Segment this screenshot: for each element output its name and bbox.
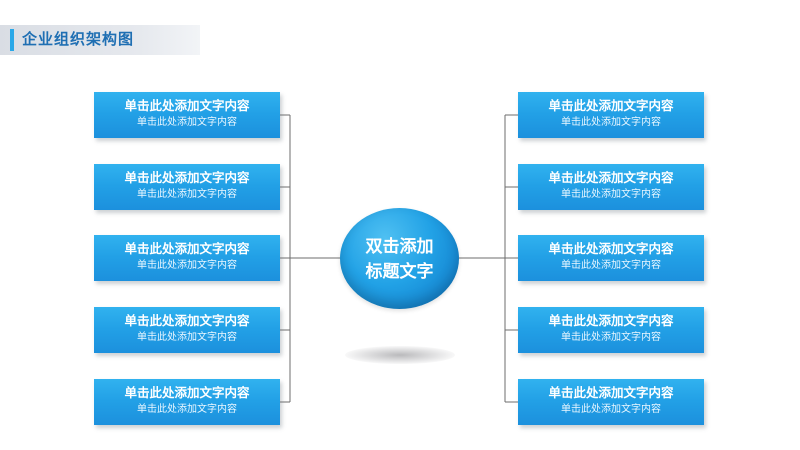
left-node-2-title: 单击此处添加文字内容	[94, 169, 280, 187]
right-node-3-title: 单击此处添加文字内容	[518, 240, 704, 258]
center-node-line2: 标题文字	[366, 259, 434, 284]
right-node-4-title: 单击此处添加文字内容	[518, 312, 704, 330]
right-node-4-subtitle: 单击此处添加文字内容	[518, 330, 704, 346]
center-node-shadow	[345, 346, 455, 364]
left-node-5[interactable]: 单击此处添加文字内容 单击此处添加文字内容	[94, 379, 280, 425]
right-node-2[interactable]: 单击此处添加文字内容 单击此处添加文字内容	[518, 164, 704, 210]
left-node-5-title: 单击此处添加文字内容	[94, 384, 280, 402]
right-node-5[interactable]: 单击此处添加文字内容 单击此处添加文字内容	[518, 379, 704, 425]
right-node-4[interactable]: 单击此处添加文字内容 单击此处添加文字内容	[518, 307, 704, 353]
left-node-1[interactable]: 单击此处添加文字内容 单击此处添加文字内容	[94, 92, 280, 138]
right-node-2-title: 单击此处添加文字内容	[518, 169, 704, 187]
left-node-3-title: 单击此处添加文字内容	[94, 240, 280, 258]
left-node-4-subtitle: 单击此处添加文字内容	[94, 330, 280, 346]
left-node-2[interactable]: 单击此处添加文字内容 单击此处添加文字内容	[94, 164, 280, 210]
right-node-1-subtitle: 单击此处添加文字内容	[518, 115, 704, 131]
right-node-1[interactable]: 单击此处添加文字内容 单击此处添加文字内容	[518, 92, 704, 138]
left-node-4-title: 单击此处添加文字内容	[94, 312, 280, 330]
left-node-5-subtitle: 单击此处添加文字内容	[94, 402, 280, 418]
right-node-5-title: 单击此处添加文字内容	[518, 384, 704, 402]
left-node-1-title: 单击此处添加文字内容	[94, 97, 280, 115]
left-node-1-subtitle: 单击此处添加文字内容	[94, 115, 280, 131]
slide-canvas: 企业组织架构图 双击添加 标题文字 单击此处添加文字内容 单击此处添加文字内容 …	[0, 0, 800, 450]
right-node-1-title: 单击此处添加文字内容	[518, 97, 704, 115]
right-node-2-subtitle: 单击此处添加文字内容	[518, 187, 704, 203]
left-node-4[interactable]: 单击此处添加文字内容 单击此处添加文字内容	[94, 307, 280, 353]
right-node-3-subtitle: 单击此处添加文字内容	[518, 258, 704, 274]
left-node-2-subtitle: 单击此处添加文字内容	[94, 187, 280, 203]
right-node-3[interactable]: 单击此处添加文字内容 单击此处添加文字内容	[518, 235, 704, 281]
right-node-5-subtitle: 单击此处添加文字内容	[518, 402, 704, 418]
left-node-3[interactable]: 单击此处添加文字内容 单击此处添加文字内容	[94, 235, 280, 281]
left-node-3-subtitle: 单击此处添加文字内容	[94, 258, 280, 274]
center-node-line1: 双击添加	[366, 234, 434, 259]
center-node[interactable]: 双击添加 标题文字	[340, 208, 459, 309]
